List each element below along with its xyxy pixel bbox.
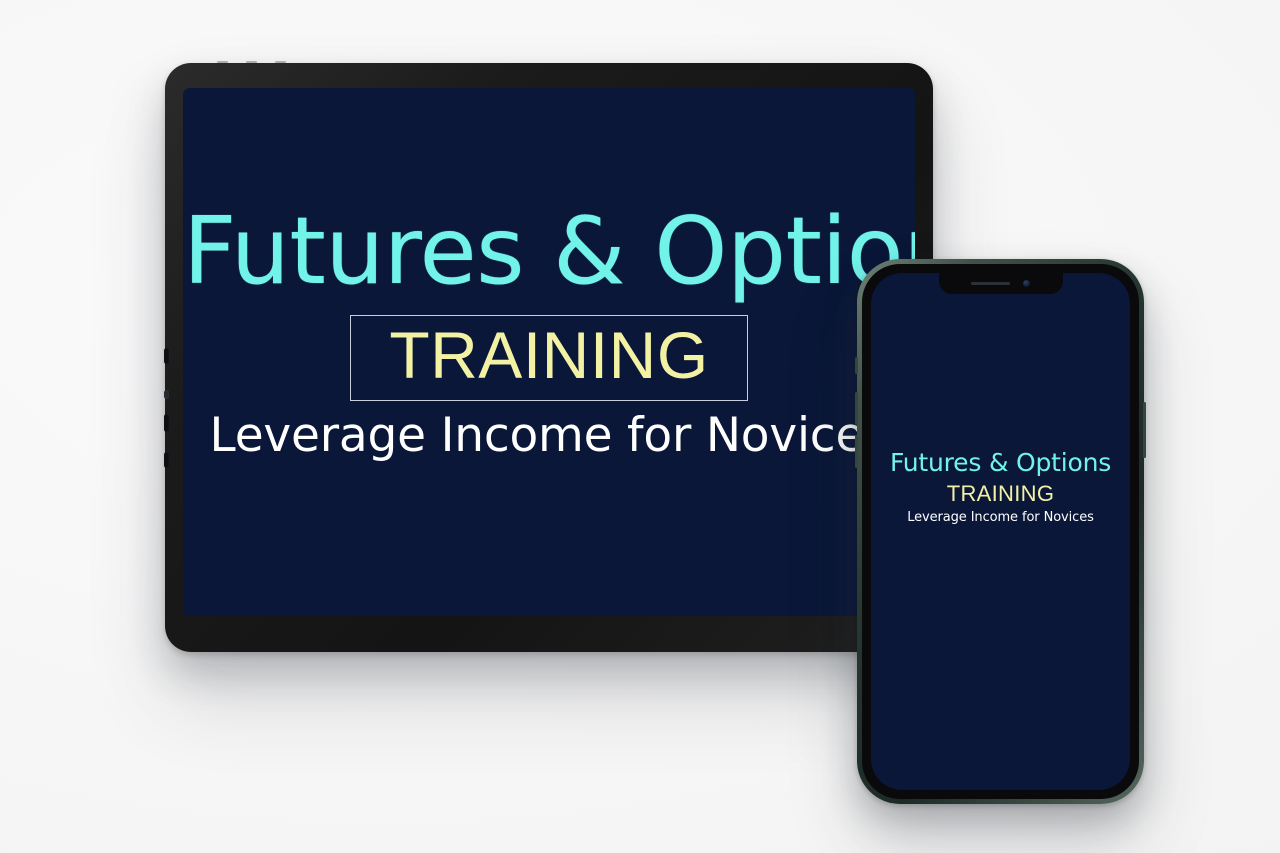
tablet-speaker-grille-icon [217,60,377,63]
phone-training-label: TRAINING [879,481,1122,507]
tablet-side-ports [164,348,169,498]
phone-mute-switch[interactable] [855,357,858,374]
phone-volume-down-button[interactable] [855,435,858,468]
tablet-training-box: TRAINING [350,315,747,401]
phone-power-button[interactable] [1143,402,1146,458]
tablet-side-port [164,414,169,432]
tablet-screen[interactable]: Futures & Options TRAINING Leverage Inco… [183,88,915,616]
tablet-slide-title: Futures & Options [183,206,915,297]
phone-volume-up-button[interactable] [855,392,858,425]
front-camera-icon [1023,280,1030,287]
speaker-grille-icon [971,282,1010,285]
phone-slide-content: Futures & Options TRAINING Leverage Inco… [871,449,1130,525]
speaker-dot [275,61,286,63]
speaker-dot [217,61,228,63]
phone-screen[interactable]: Futures & Options TRAINING Leverage Inco… [871,273,1130,790]
phone-bezel: Futures & Options TRAINING Leverage Inco… [862,264,1139,799]
tablet-slide-subtitle: Leverage Income for Novices [183,410,915,462]
mockup-stage: Futures & Options TRAINING Leverage Inco… [0,0,1280,853]
phone-slide-subtitle: Leverage Income for Novices [879,510,1122,526]
tablet-training-label: TRAINING [389,320,708,391]
tablet-slide-content: Futures & Options TRAINING Leverage Inco… [183,206,915,461]
tablet-side-port [164,348,169,364]
phone-slide-title: Futures & Options [879,449,1122,477]
tablet-side-port [164,452,169,468]
tablet-microphone-icon [164,390,169,399]
phone-device[interactable]: Futures & Options TRAINING Leverage Inco… [857,259,1144,804]
phone-notch [939,273,1063,294]
speaker-dot [246,61,257,63]
tablet-device[interactable]: Futures & Options TRAINING Leverage Inco… [165,63,933,652]
